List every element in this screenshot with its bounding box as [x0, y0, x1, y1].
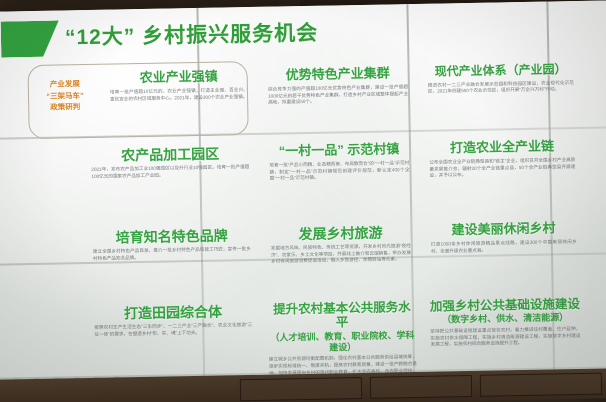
cell-5-title: “一村一品” 示范村镇 [269, 142, 409, 160]
opportunity-cell-3[interactable]: 现代产业体系（产业园） 推进农村一二三产业融合发展示范园和科技园区建设，农业现代… [421, 61, 580, 98]
opportunity-cell-9[interactable]: 建设美丽休闲乡村 打造1000条乡村休闲旅游精品景点线路，建设300个中国美丽休… [424, 219, 583, 257]
cell-2-body: 综合竞争力强的产值超100亿元优势特色产业集群，建设一批产值超1000亿元的若干… [268, 84, 408, 107]
cabinet-panel-3 [480, 373, 602, 397]
opportunity-cell-5[interactable]: “一村一品” 示范村镇 培育一批“产品小而精、业态精而美、布局散而合”的“一村一… [263, 140, 416, 185]
opportunity-grid: 产业发展 “三架马车” 政策研判 农业产业强镇 培育一批产值超10亿元的、农业产… [0, 53, 589, 386]
cell-3-body: 推进农村一二三产业融合发展示范园和科技园区建设，农业现代化示范区，2021年创建… [428, 80, 574, 96]
opportunity-cell-1[interactable]: 农业产业强镇 培育一批产值超10亿元的、农业产业强镇，打造主业强、百业兴、富民宜… [104, 67, 255, 105]
opportunity-cell-8[interactable]: 发展乡村旅游 发掘地方风味、民族特色、传统工艺等资源，开发乡村风光旅游“夜经济”… [264, 222, 417, 268]
opportunity-cell-6[interactable]: 打造农业全产业链 公布全国农业全产业链典型县和“链主”企业，组织召开全国乡村产业… [423, 137, 582, 182]
slide-title: “12大” 乡村振兴服务机会 [65, 17, 319, 52]
cell-11-title: 提升农村基本公共服务水平 [268, 300, 417, 331]
meeting-room-scene: “12大” 乡村振兴服务机会 产业发展 “三架马车” 政策研判 农业产业强镇 培… [0, 0, 606, 402]
cell-9-body: 打造1000条乡村休闲旅游精品景点线路，建设300个中国美丽休闲乡村，全面升级农… [431, 239, 577, 255]
opportunity-cell-2[interactable]: 优势特色产业集群 综合竞争力强的产值超100亿元优势特色产业集群，建设一批产值超… [262, 64, 415, 109]
opportunity-cell-7[interactable]: 培育知名特色品牌 建立全国乡村特色产品目录，推介一批乡村特色产品和能工巧匠，宣传… [86, 225, 257, 265]
cell-1-body: 培育一批产值超10亿元的、农业产业强镇，打造主业强、百业兴、富民宜业的农村区域服… [110, 87, 248, 103]
green-corner-decoration [1, 21, 60, 58]
cell-8-title: 发展乡村旅游 [270, 224, 410, 243]
opportunity-cell-4[interactable]: 农产品加工园区 2021年，发布农产品加工业100强园区以及升行业10强园区。培… [85, 143, 256, 183]
opportunity-cell-10[interactable]: 打造田园综合体 按照农村生产生活生态“三生同步”、一二三产业“三产融合”、农业文… [88, 301, 259, 341]
led-video-wall: “12大” 乡村振兴服务机会 产业发展 “三架马车” 政策研判 农业产业强镇 培… [0, 0, 606, 402]
cell-6-body: 公布全国农业全产业链典型县和“链主”企业，组织召开全国乡村产业高质量发展推介会，… [429, 157, 575, 180]
cell-3-title: 现代产业体系（产业园） [428, 63, 574, 79]
policy-badge: 产业发展 “三架马车” 政策研判 [32, 78, 99, 114]
cell-4-body: 2021年，发布农产品加工业100强园区以及升行业10强园区。培育一批产值超10… [91, 164, 249, 180]
slide-canvas: “12大” 乡村振兴服务机会 产业发展 “三架马车” 政策研判 农业产业强镇 培… [0, 0, 606, 402]
cell-12-subtitle: （数字乡村、供水、清洁能源） [430, 312, 580, 326]
cabinet-panel-1 [240, 377, 362, 401]
cell-4-title: 农产品加工园区 [91, 145, 249, 164]
cell-7-body: 建立全国乡村特色产品目录，推介一批乡村特色产品和能工巧匠，宣传一批乡村特色产品知… [93, 246, 251, 262]
cell-6-title: 打造农业全产业链 [429, 139, 575, 157]
cell-7-title: 培育知名特色品牌 [92, 227, 250, 246]
cell-11-subtitle: （人才培训、教育、职业院校、学科建设） [268, 330, 416, 354]
cell-12-body: 坚持把公共基础设施建设重点放在农村，着力推进往村覆盖、往户延伸，实施农村供水保障… [430, 326, 580, 349]
cell-8-body: 发掘地方风味、民族特色、传统工艺等资源，开发乡村风光旅游“夜经济”、农家乐、乡土… [271, 243, 411, 266]
cell-10-body: 按照农村生产生活生态“三生同步”、一二三产业“三产融合”、农业文化旅游“三位一体… [94, 322, 252, 338]
cell-2-title: 优势特色产业集群 [268, 66, 408, 84]
cell-5-body: 培育一批“产品小而精、业态精而美、布局散而合”的“一村一品”示范村镇，制定“一村… [269, 160, 409, 183]
cabinet-panel-2 [370, 375, 472, 399]
cell-1-title: 农业产业强镇 [110, 69, 248, 86]
cell-10-title: 打造田园综合体 [94, 303, 252, 322]
cell-9-title: 建设美丽休闲乡村 [430, 221, 576, 239]
opportunity-cell-12[interactable]: 加强乡村公共基础设施建设 （数字乡村、供水、清洁能源） 坚持把公共基础设施建设重… [424, 295, 587, 351]
